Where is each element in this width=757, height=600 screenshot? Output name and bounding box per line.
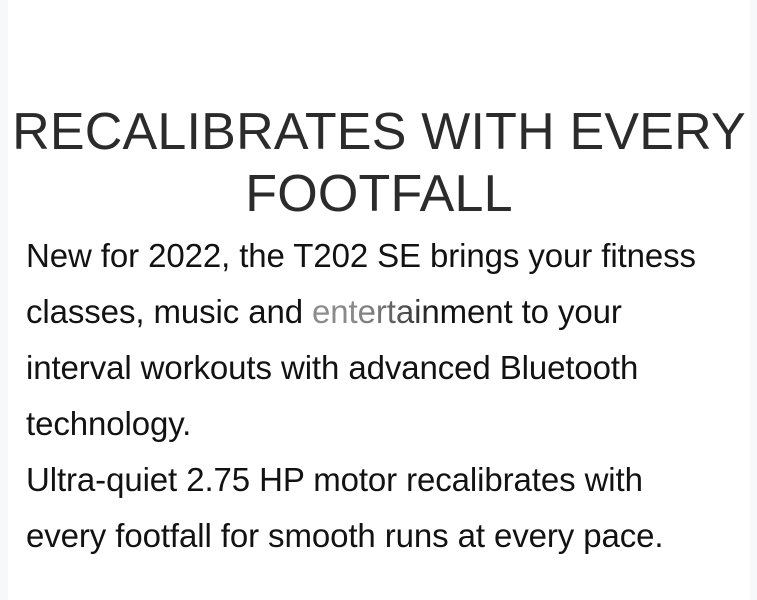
body-line-2-suffix: ment to your xyxy=(440,293,622,330)
left-edge-strip xyxy=(0,0,8,600)
body-line-3: interval workouts with advanced Bluetoot… xyxy=(26,340,726,396)
body-line-1: New for 2022, the T202 SE brings your fi… xyxy=(26,228,726,284)
content-area: RECALIBRATES WITH EVERY FOOTFALL New for… xyxy=(8,0,750,600)
body-line-5: Ultra-quiet 2.75 HP motor recalibrates w… xyxy=(26,452,726,508)
description-body: New for 2022, the T202 SE brings your fi… xyxy=(26,228,726,564)
faded-word-fragment: entertain xyxy=(312,293,440,330)
right-edge-strip xyxy=(750,0,757,600)
body-line-6: every footfall for smooth runs at every … xyxy=(26,508,726,564)
product-description-screen: RECALIBRATES WITH EVERY FOOTFALL New for… xyxy=(0,0,757,600)
body-line-4: technology. xyxy=(26,396,726,452)
body-line-2-prefix: classes, music and xyxy=(26,293,312,330)
body-line-2: classes, music and entertainment to your xyxy=(26,284,726,340)
page-title: RECALIBRATES WITH EVERY FOOTFALL xyxy=(8,101,750,225)
